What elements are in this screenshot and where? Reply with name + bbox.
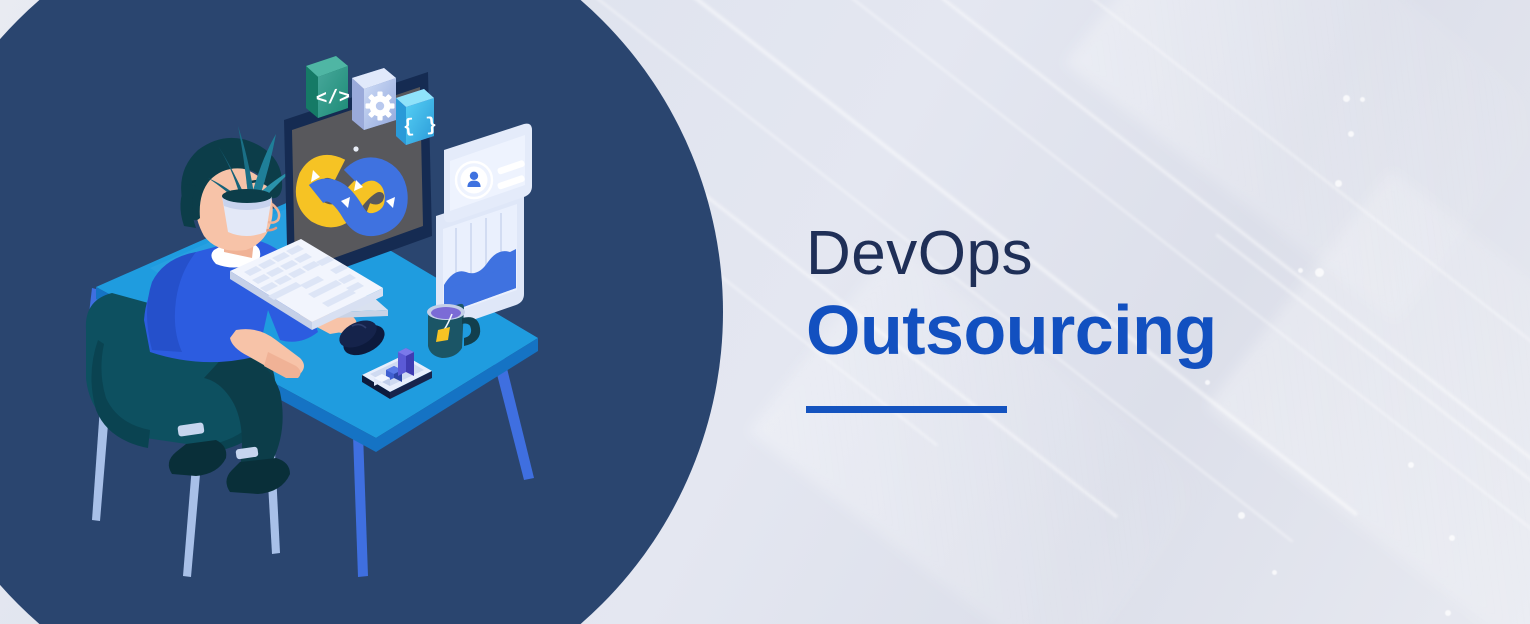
sparkle-dot	[1449, 535, 1455, 541]
sparkle-dot	[1335, 180, 1342, 187]
devops-illustration: </>	[0, 0, 723, 624]
light-streak	[1215, 233, 1530, 624]
sparkle-dot	[1445, 610, 1451, 616]
sparkle-dot	[1348, 131, 1354, 137]
page-title-line1: DevOps	[806, 222, 1217, 285]
sparkle-dot	[1315, 268, 1324, 277]
sparkle-dot	[1360, 97, 1365, 102]
light-wedge	[1206, 170, 1530, 624]
title-underline-rule	[806, 406, 1007, 413]
page-title-line2: Outsourcing	[806, 291, 1217, 369]
floating-icon-braces: { }	[396, 89, 438, 145]
svg-text:</>: </>	[315, 86, 351, 110]
sparkle-dot	[1343, 95, 1350, 102]
floating-icon-gear	[352, 68, 396, 130]
sparkle-dot	[1238, 512, 1245, 519]
devops-outsourcing-banner: </>	[0, 0, 1530, 624]
svg-text:{ }: { }	[402, 114, 438, 138]
sparkle-dot	[1272, 570, 1277, 575]
headline-block: DevOps Outsourcing	[806, 222, 1217, 413]
sparkle-dot	[1408, 462, 1414, 468]
floating-icon-code: </>	[306, 56, 351, 118]
sparkle-dot	[1298, 268, 1303, 273]
